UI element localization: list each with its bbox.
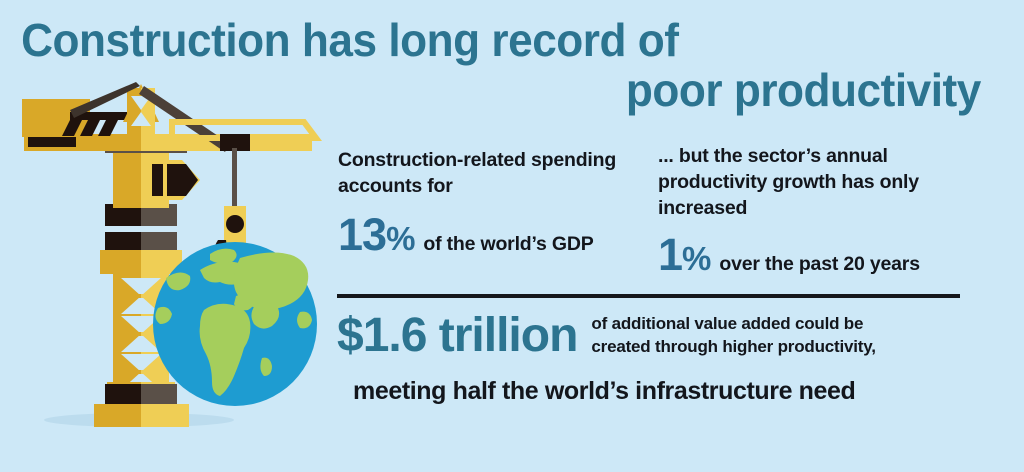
- crane-globe-illustration: [4, 82, 334, 427]
- hook-sheave: [226, 215, 244, 233]
- stat-figure-row-productivity: 1% over the past 20 years: [658, 232, 988, 277]
- counter-jib-lattice: [62, 112, 132, 136]
- base-footing-right: [141, 404, 189, 427]
- cab-window-right: [167, 164, 198, 196]
- bottom-statement-tail: of additional value added could be creat…: [591, 313, 875, 358]
- base-band-brown: [141, 384, 177, 404]
- stat-lead-productivity: ... but the sector’s annual productivity…: [658, 144, 988, 222]
- page-title-line-1: Construction has long record of: [0, 16, 960, 66]
- counterweight-foot: [28, 137, 76, 147]
- bottom-statement-row: $1.6 trillion of additional value added …: [337, 312, 977, 360]
- stat-block-productivity: ... but the sector’s annual productivity…: [658, 144, 988, 277]
- bottom-statement: $1.6 trillion of additional value added …: [337, 312, 977, 406]
- cab-window-left: [152, 164, 163, 196]
- section-divider: [337, 294, 960, 298]
- bottom-tail-line-1: of additional value added could be: [591, 314, 863, 333]
- bottom-final-line: meeting half the world’s infrastructure …: [353, 377, 977, 406]
- stat-value-productivity-growth: 1%: [658, 232, 710, 277]
- bottom-tail-line-2: created through higher productivity,: [591, 337, 875, 356]
- stat-tail-productivity: over the past 20 years: [719, 255, 919, 275]
- stat-block-spending: Construction-related spending accounts f…: [338, 148, 638, 257]
- stat-tail-spending: of the world’s GDP: [423, 235, 593, 255]
- stat-value-additional-value: $1.6 trillion: [337, 312, 577, 360]
- stat-figure-row-spending: 13% of the world’s GDP: [338, 212, 638, 257]
- stat-lead-spending: Construction-related spending accounts f…: [338, 148, 638, 200]
- stat-value-gdp-share: 13%: [338, 212, 414, 257]
- infographic-canvas: Construction has long record of poor pro…: [0, 0, 1024, 472]
- hoist-cable: [232, 148, 237, 210]
